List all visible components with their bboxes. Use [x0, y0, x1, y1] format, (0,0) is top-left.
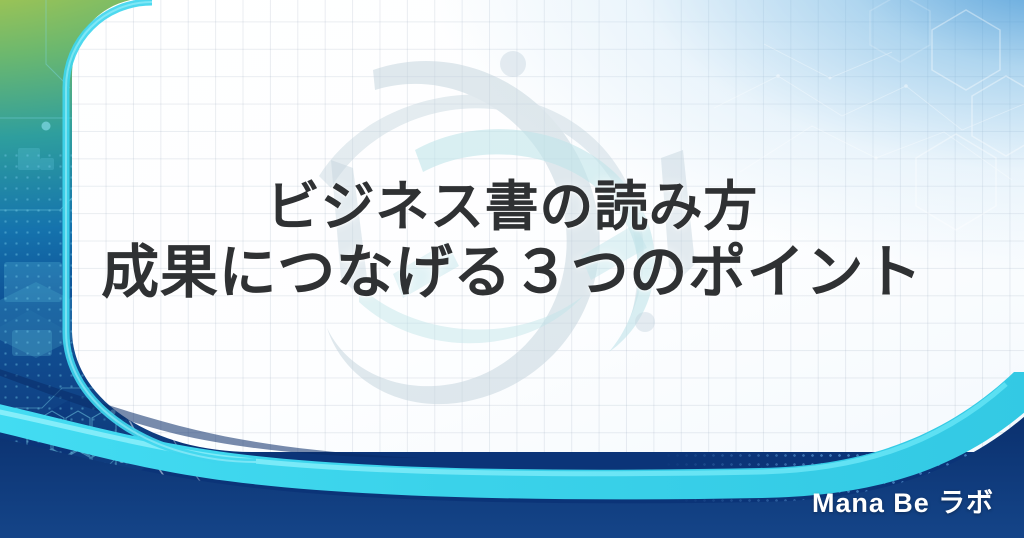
title-line-2: 成果につなげる３つのポイント	[0, 239, 1024, 306]
thumbnail-canvas: ビジネス書の読み方 成果につなげる３つのポイント Mana Be ラボ	[0, 0, 1024, 538]
brand-logo: Mana Be ラボ	[812, 481, 994, 520]
page-title: ビジネス書の読み方 成果につなげる３つのポイント	[0, 176, 1024, 306]
title-line-1: ビジネス書の読み方	[0, 176, 1024, 239]
